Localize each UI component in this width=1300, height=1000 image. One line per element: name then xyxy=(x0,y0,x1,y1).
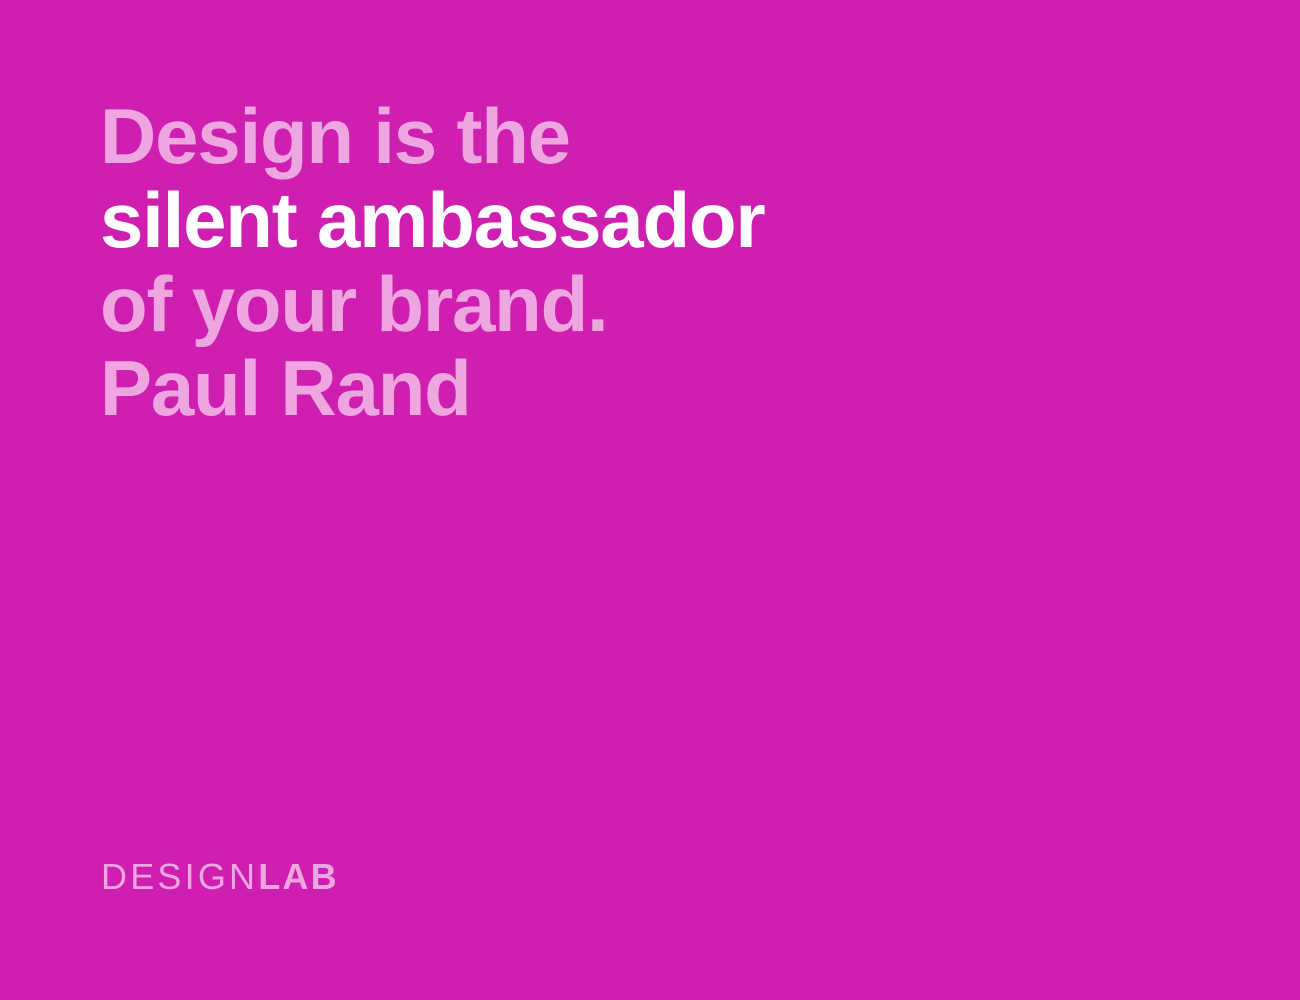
quote-line-3: of your brand. xyxy=(100,262,1200,346)
quote-line-2-emphasis: silent ambassador xyxy=(100,178,1200,262)
quote-attribution: Paul Rand xyxy=(100,346,1200,430)
designlab-logo: DESIGN LAB xyxy=(101,857,339,897)
logo-word-lab: LAB xyxy=(258,857,339,897)
quote-line-1: Design is the xyxy=(100,94,1200,178)
quote-text-block: Design is the silent ambassador of your … xyxy=(100,94,1200,430)
logo-word-design: DESIGN xyxy=(101,857,258,897)
quote-slide: Design is the silent ambassador of your … xyxy=(0,0,1300,1000)
